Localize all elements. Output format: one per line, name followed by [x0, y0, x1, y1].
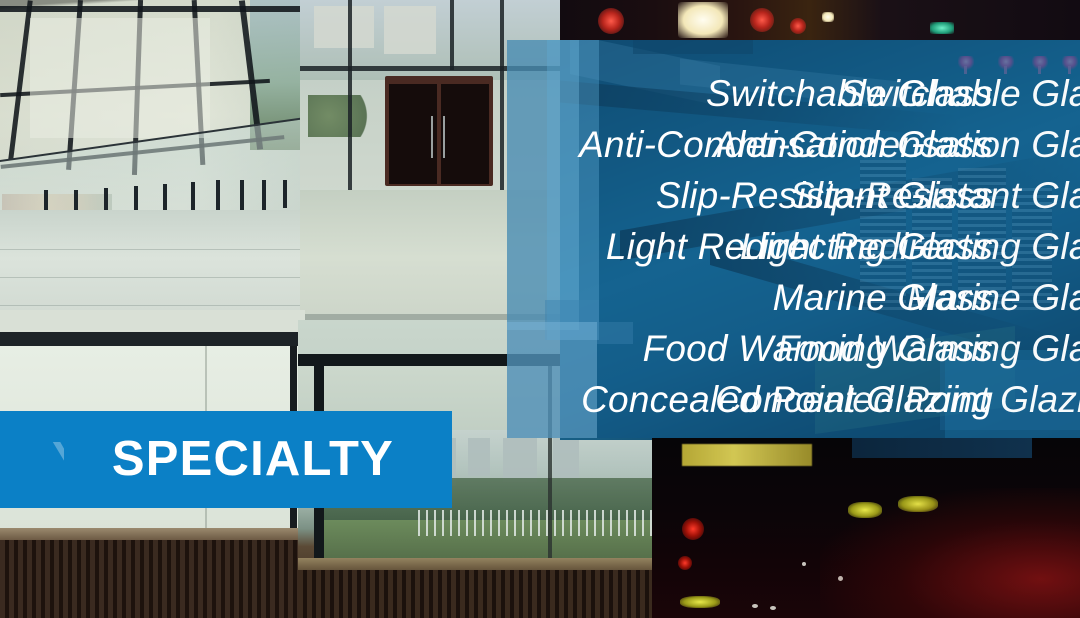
timber-slat-wainscot — [298, 570, 660, 618]
park-fence — [418, 510, 660, 536]
distant-tower — [503, 438, 537, 482]
red-lamp — [790, 18, 806, 34]
white-indicator — [752, 604, 758, 608]
red-lamp — [598, 8, 624, 34]
glass-type-item-slip-resistant: Slip-Resistant Glass — [13, 170, 993, 221]
overlay-tint-topbar — [633, 40, 753, 54]
glass-type-list: Switchable Glass Anti-Condensation Glass… — [13, 68, 993, 425]
chart-table-glow — [682, 444, 812, 466]
photo-ship-bridge — [652, 438, 1080, 618]
distant-tower — [553, 438, 579, 478]
exterior-building — [384, 6, 436, 54]
photo-night-lights — [560, 0, 1080, 44]
white-lamp — [678, 2, 728, 38]
red-indicator — [682, 518, 704, 540]
window-sill — [0, 528, 305, 540]
green-lamp — [930, 22, 954, 34]
timber-slat-wainscot — [0, 540, 305, 618]
white-indicator — [770, 606, 776, 610]
red-ambient-glow — [820, 488, 1080, 618]
specialty-glass-slide: Switchable Glass Anti-Condensation Glass… — [0, 0, 1080, 618]
bridge-display — [852, 438, 1032, 458]
atrium-mullion — [0, 6, 310, 12]
glass-type-item-anti-condensation: Anti-Condensation Glass — [13, 119, 993, 170]
white-lamp — [822, 12, 834, 22]
yellow-indicator — [680, 596, 720, 608]
specialty-banner: SPECIALTY — [0, 411, 452, 508]
glass-type-item-food-warming: Food Warming Glass — [13, 323, 993, 374]
specialty-title: SPECIALTY — [112, 435, 394, 484]
red-lamp — [750, 8, 774, 32]
glass-type-item-switchable: Switchable Glass — [13, 68, 993, 119]
red-indicator — [678, 556, 692, 570]
white-indicator — [802, 562, 806, 566]
glass-type-item-marine: Marine Glass — [13, 272, 993, 323]
distant-tower — [468, 438, 490, 476]
lobby-mullion — [450, 0, 454, 70]
window-sill — [298, 558, 660, 570]
specialty-title-ghost: Y — [52, 432, 64, 488]
exterior-building — [314, 6, 374, 48]
glass-type-item-light-redirecting: Light Redirecting Glass — [13, 221, 993, 272]
